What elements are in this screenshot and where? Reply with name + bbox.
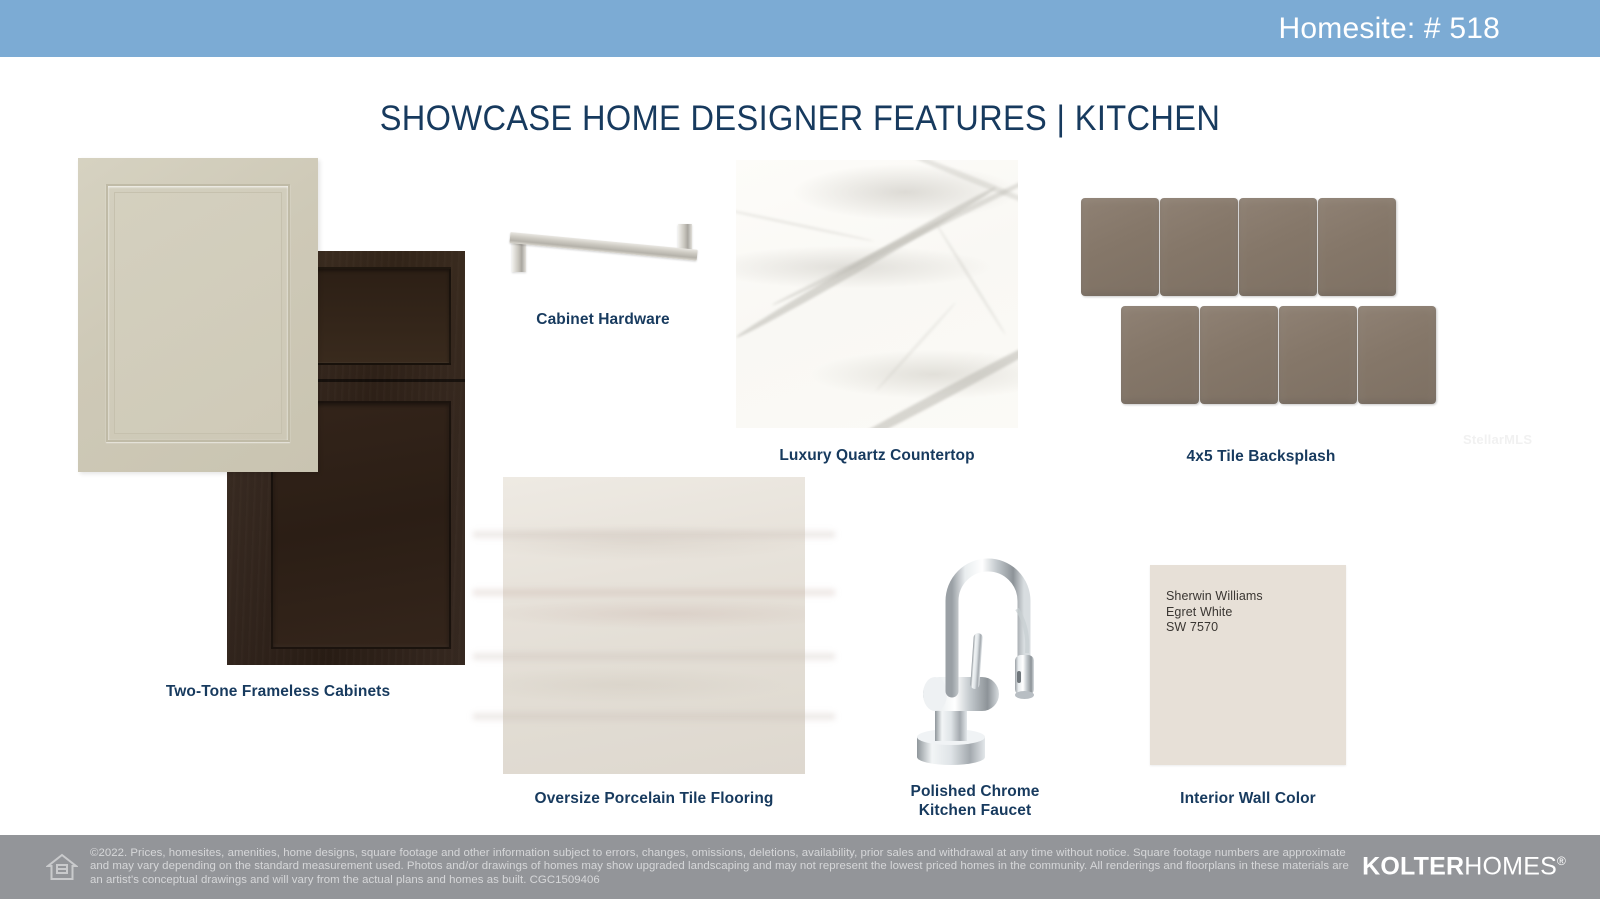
label-cabinet-hardware: Cabinet Hardware [463, 310, 743, 329]
quartz-vein [935, 224, 1006, 336]
header-banner: Homesite: # 518 [0, 0, 1600, 57]
footer-bar: ©2022. Prices, homesites, amenities, hom… [0, 835, 1600, 899]
label-oversize-porcelain-tile-flooring: Oversize Porcelain Tile Flooring [504, 789, 804, 808]
backsplash-tile [1318, 198, 1396, 296]
backsplash-tile [1081, 198, 1159, 296]
backsplash-tile [1279, 306, 1357, 404]
registered-trademark-icon: ® [1557, 854, 1566, 868]
paint-details: Sherwin Williams Egret White SW 7570 [1166, 589, 1263, 636]
kitchen-faucet-image [905, 505, 1065, 770]
quartz-vein [811, 318, 1018, 428]
backsplash-tile [1121, 306, 1199, 404]
paint-color-swatch: Sherwin Williams Egret White SW 7570 [1150, 565, 1346, 765]
page-title: SHOWCASE HOME DESIGNER FEATURES | KITCHE… [56, 99, 1544, 139]
pull-leg-left [512, 242, 526, 272]
cabinet-door-center-panel [114, 192, 282, 434]
paint-code: SW 7570 [1166, 620, 1263, 636]
paint-name: Egret White [1166, 605, 1263, 621]
logo-kolter: KOLTER [1362, 853, 1464, 881]
cabinet-hardware-pull [498, 218, 708, 288]
quartz-vein [736, 204, 874, 242]
cabinet-swatch-light [78, 158, 318, 472]
stellar-mls-watermark: StellarMLS [1463, 432, 1532, 447]
equal-housing-opportunity-icon [46, 852, 78, 882]
quartz-vein [875, 301, 958, 392]
label-two-tone-frameless-cabinets: Two-Tone Frameless Cabinets [88, 682, 468, 701]
label-4x5-tile-backsplash: 4x5 Tile Backsplash [1111, 447, 1411, 466]
backsplash-tile [1200, 306, 1278, 404]
cabinet-door-frame [106, 184, 290, 442]
tile-streak [473, 531, 835, 538]
label-polished-chrome-kitchen-faucet: Polished Chrome Kitchen Faucet [855, 782, 1095, 820]
faucet-label-line2: Kitchen Faucet [855, 801, 1095, 820]
tile-streak [473, 713, 835, 720]
footer-disclaimer: ©2022. Prices, homesites, amenities, hom… [90, 847, 1360, 888]
backsplash-tile [1160, 198, 1238, 296]
tile-streak [473, 653, 835, 660]
faucet-label-line1: Polished Chrome [855, 782, 1095, 801]
faucet-icon [905, 505, 1065, 770]
backsplash-tile [1239, 198, 1317, 296]
quartz-countertop-swatch [736, 160, 1018, 428]
paint-brand: Sherwin Williams [1166, 589, 1263, 605]
logo-homes: HOMES [1464, 853, 1557, 881]
homesite-number: Homesite: # 518 [1279, 12, 1600, 46]
backsplash-tile [1358, 306, 1436, 404]
tile-streak [473, 589, 835, 596]
porcelain-tile-swatch [503, 477, 805, 774]
label-luxury-quartz-countertop: Luxury Quartz Countertop [697, 446, 1057, 465]
kolter-homes-logo: KOLTERHOMES® [1362, 853, 1566, 882]
label-interior-wall-color: Interior Wall Color [1118, 789, 1378, 808]
pull-bar [509, 232, 697, 261]
tile-backsplash-swatch [1079, 194, 1443, 416]
